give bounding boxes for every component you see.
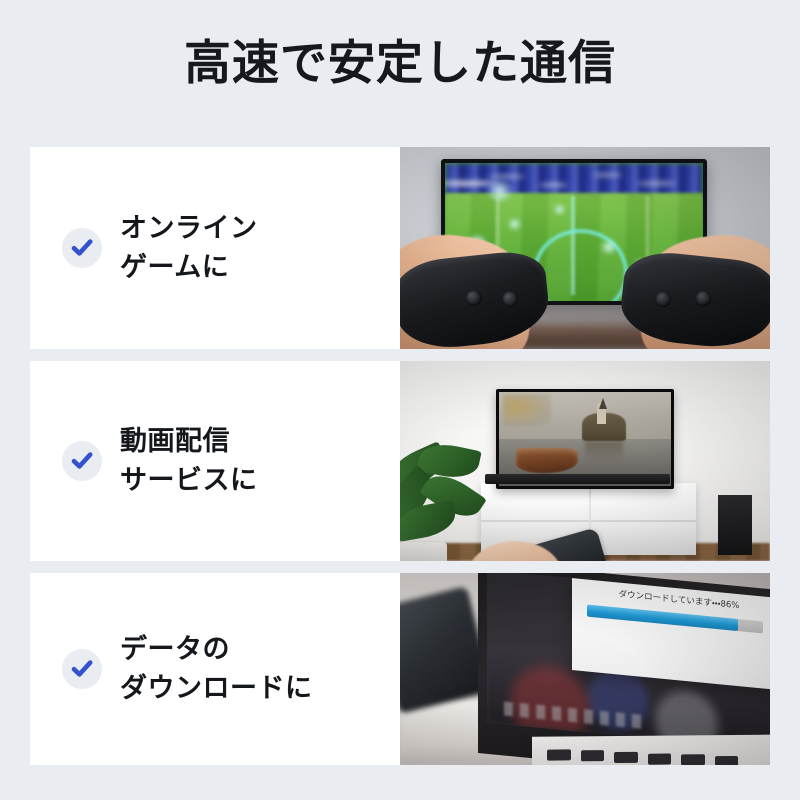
house-plant	[400, 445, 496, 561]
card-label-line-1: オンライン	[120, 209, 258, 248]
keyboard-key	[648, 754, 671, 765]
controller-analog-stick	[465, 289, 483, 307]
check-circle-icon	[62, 649, 102, 689]
tv-screen	[499, 392, 671, 486]
card-label: オンライン ゲームに	[120, 209, 258, 287]
scene-wooden-boat	[516, 448, 578, 472]
screen-glow	[600, 240, 618, 254]
card-label-line-2: ダウンロードに	[120, 669, 313, 708]
scene-tree-branch	[503, 394, 551, 426]
controller-analog-stick	[694, 290, 712, 308]
card-image-video-streaming	[400, 361, 770, 561]
keyboard-key	[614, 753, 637, 764]
card-label-line-2: ゲームに	[120, 248, 258, 287]
card-label: データの ダウンロードに	[120, 630, 313, 708]
scene-reflection	[585, 441, 623, 462]
keyboard-key	[547, 750, 570, 761]
card-text-pane: 動画配信 サービスに	[30, 361, 400, 561]
stadium-crowd	[445, 163, 703, 197]
controller-analog-stick	[502, 290, 520, 308]
card-label: 動画配信 サービスに	[120, 422, 258, 500]
keyboard-key	[681, 756, 704, 765]
card-image-online-gaming	[400, 147, 770, 349]
keyboard-key	[581, 751, 604, 762]
card-label-line-2: サービスに	[120, 461, 258, 500]
card-label-line-1: 動画配信	[120, 422, 258, 461]
feature-card-video-streaming: 動画配信 サービスに	[30, 361, 770, 561]
laptop-screen: ダウンロードしています・・・86%	[487, 573, 770, 751]
laptop: ダウンロードしています・・・86%	[478, 573, 770, 765]
feature-card-online-gaming: オンライン ゲームに	[30, 147, 770, 349]
page-title: 高速で安定した通信	[0, 36, 800, 90]
card-image-data-download: ダウンロードしています・・・86%	[400, 573, 770, 765]
check-circle-icon	[62, 441, 102, 481]
keyboard-key	[715, 757, 738, 765]
check-circle-icon	[62, 228, 102, 268]
card-text-pane: オンライン ゲームに	[30, 147, 400, 349]
screen-glow	[486, 180, 514, 202]
card-label-line-1: データの	[120, 630, 313, 669]
scene-church-spire	[599, 398, 607, 409]
feature-card-data-download: データの ダウンロードに ダウンロードしています・・・86%	[30, 573, 770, 765]
soundbar	[485, 474, 670, 484]
card-text-pane: データの ダウンロードに	[30, 573, 400, 765]
plant-pot	[400, 542, 447, 561]
laptop-keyboard	[532, 735, 770, 765]
controller-analog-stick	[654, 291, 672, 309]
floor-speaker	[718, 495, 751, 555]
